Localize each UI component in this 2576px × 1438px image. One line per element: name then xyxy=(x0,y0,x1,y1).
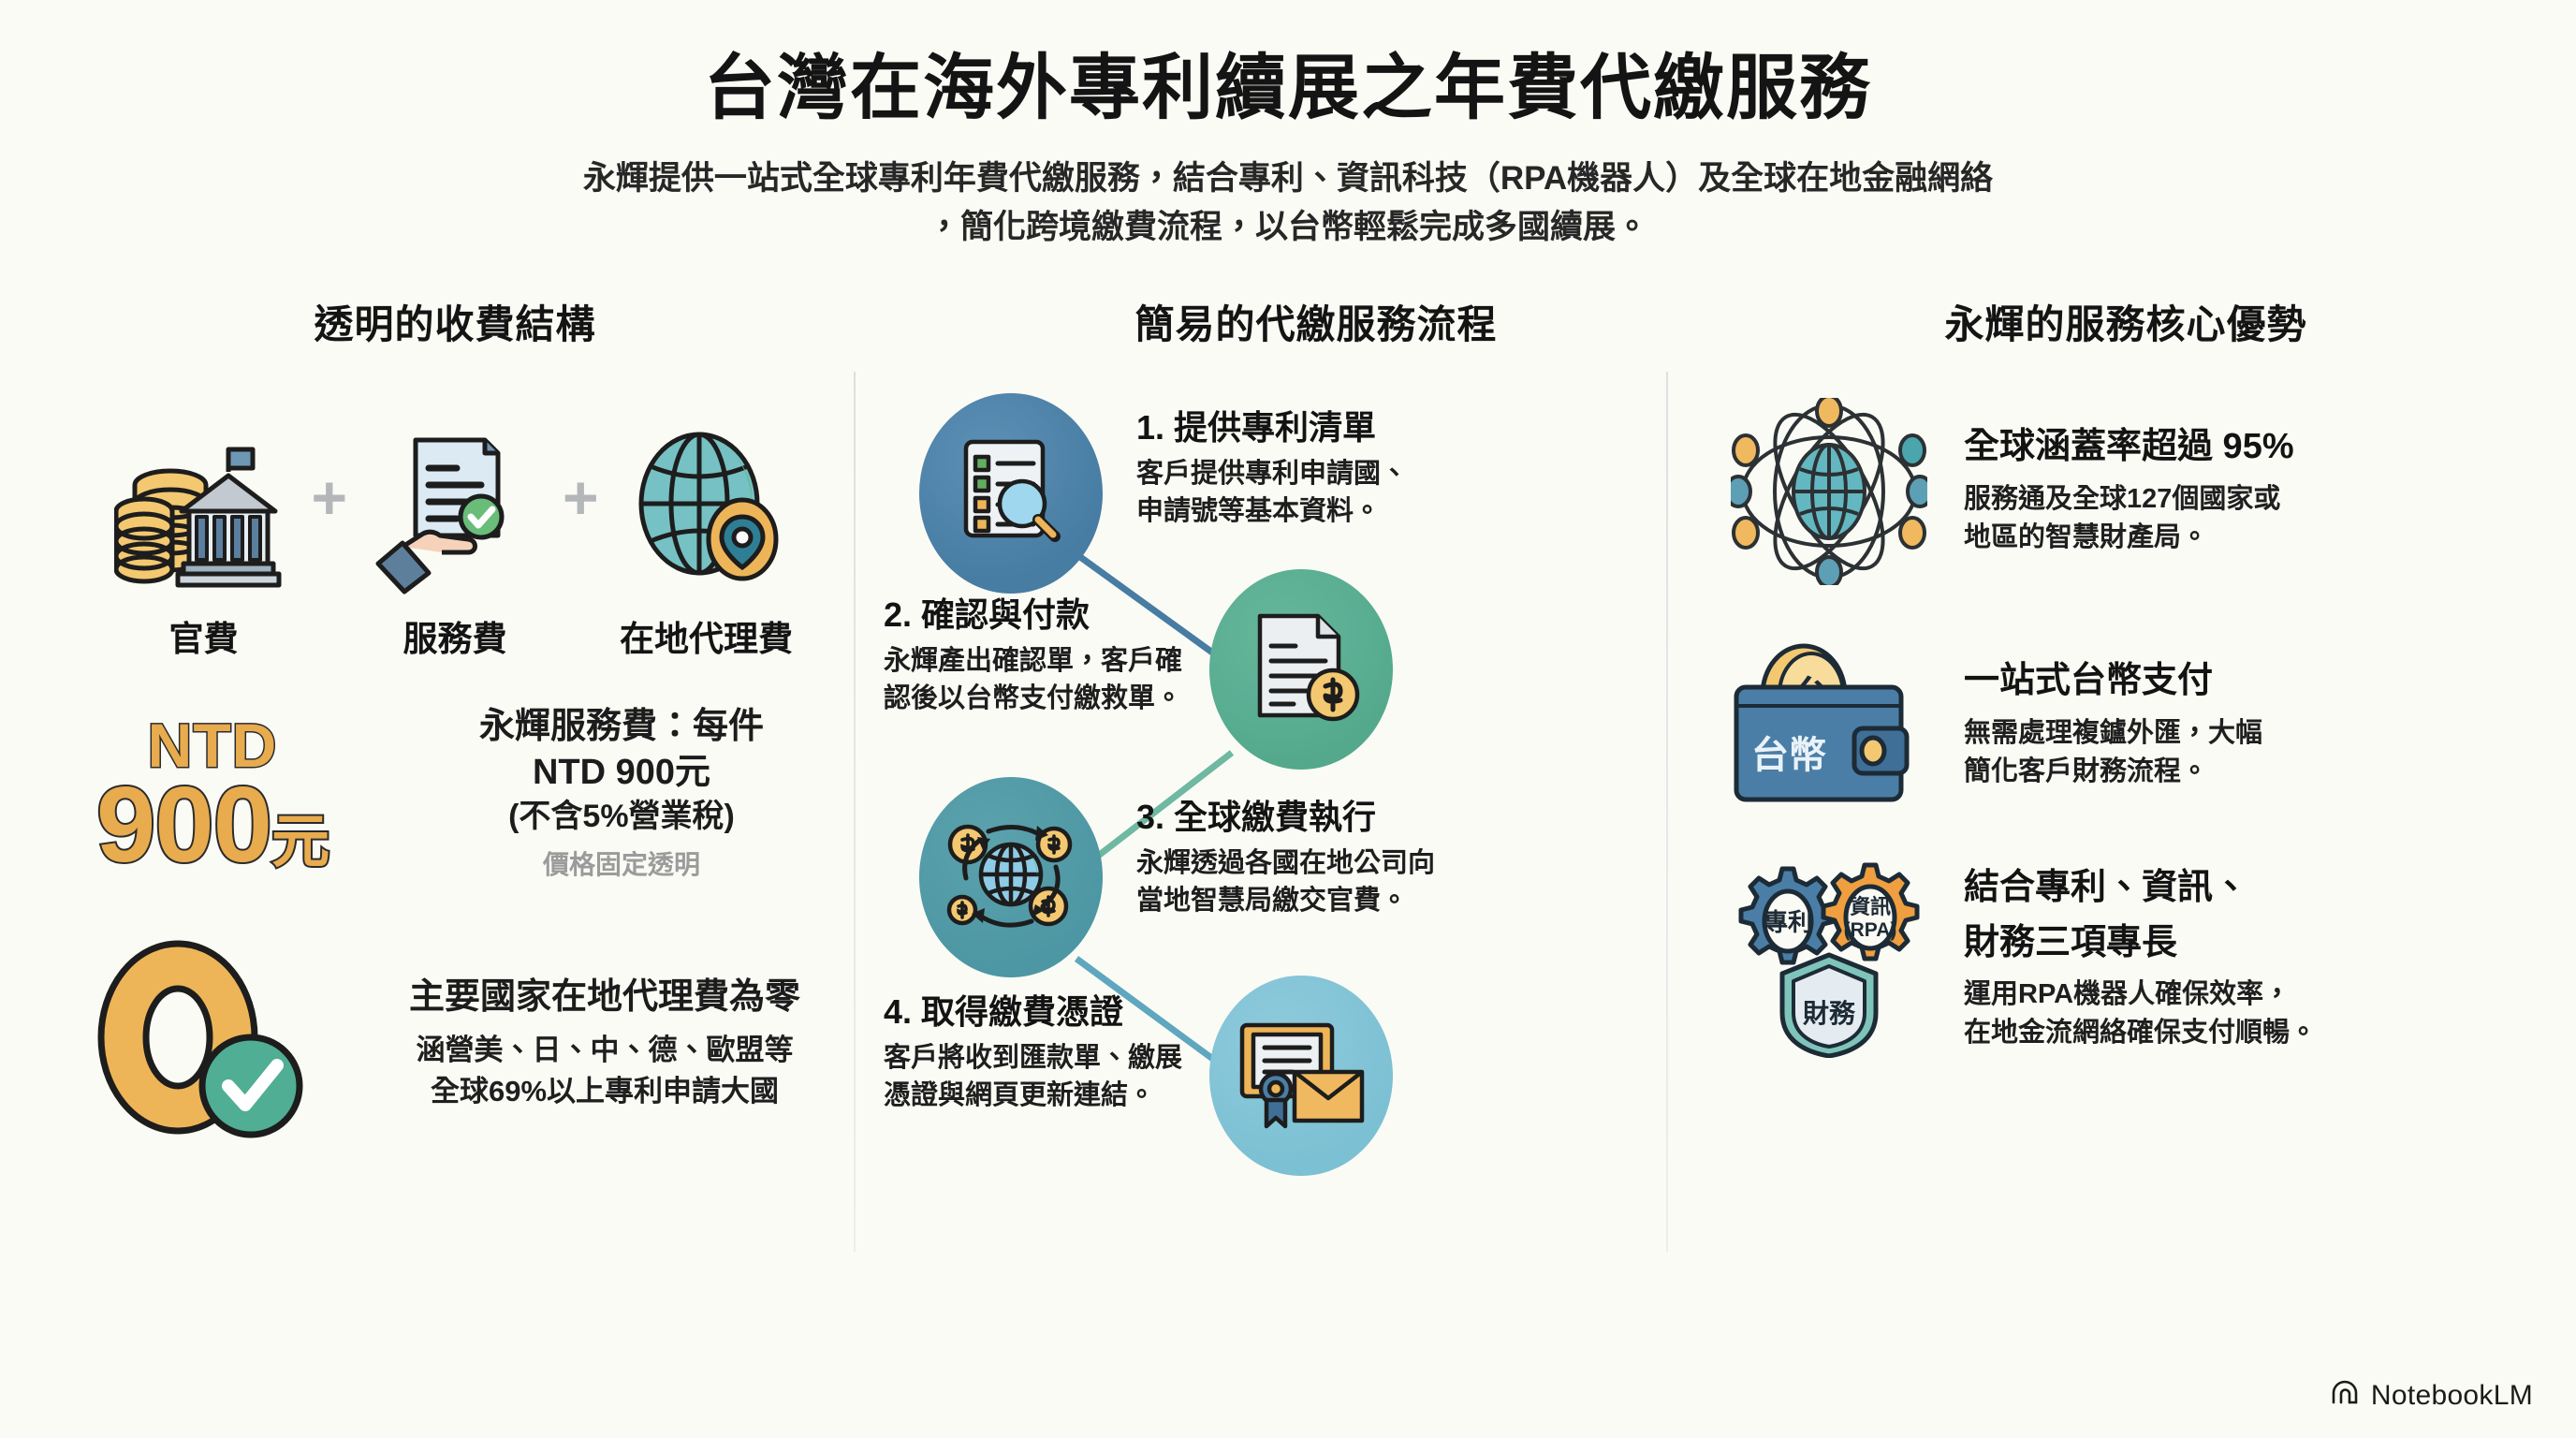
step-number: 1. xyxy=(1136,408,1164,447)
hand-document-check-icon xyxy=(357,399,553,595)
step-title: 4. 取得繳費憑證 xyxy=(884,985,1247,1034)
fee-component-local-agent: 在地代理費 xyxy=(608,399,805,661)
fee-component-official: 官費 xyxy=(105,399,301,661)
step-title-text: 確認與付款 xyxy=(921,595,1090,634)
step-desc-line-1: 永輝透過各國在地公司向 xyxy=(1136,844,1522,882)
checklist-magnifier-icon xyxy=(949,429,1073,557)
price-block: NTD 900元 永輝服務費：每件 NTD 900元 (不含5%營業稅) 價格固… xyxy=(34,704,876,883)
price-unit: 元 xyxy=(271,810,329,874)
process-bubble-1 xyxy=(919,393,1103,594)
advantage-twd-payment: 台 台幣 一站式台幣支付 無需處理複鑪外匯，大幅 簡化客戶財務流程。 xyxy=(1700,629,2542,822)
advantage-heading-line-2: 財務三項專長 xyxy=(1964,921,2317,964)
plus-sign-1: + xyxy=(311,399,347,595)
price-badge: NTD 900元 xyxy=(58,710,367,876)
zero-agent-fee-block: 主要國家在地代理費為零 涵營美、日、中、德、歐盟等 全球69%以上專利申請大國 xyxy=(34,936,876,1142)
step-title: 3. 全球繳費執行 xyxy=(1136,790,1522,839)
advantage-text: 全球涵蓋率超過 95% 服務通及全球127個國家或 地區的智慧財產局。 xyxy=(1964,425,2294,557)
process-step-4: 4. 取得繳費憑證 客戶將收到匯款單、繳展 憑證與網頁更新連結。 xyxy=(884,985,1247,1114)
fee-components-row: 官費 + xyxy=(34,399,876,661)
advantage-text: 一站式台幣支付 無需處理複鑪外匯，大幅 簡化客戶財務流程。 xyxy=(1964,659,2262,791)
global-network-globe-icon xyxy=(1719,395,1939,588)
zero-check-icon xyxy=(62,936,333,1142)
gear2-label-bottom: (RPA) xyxy=(1844,919,1897,941)
column-fee-structure: 透明的收費結構 xyxy=(34,293,876,1407)
step-desc-line-2: 申請號等基本資料。 xyxy=(1136,492,1511,530)
advantage-desc-line-1: 服務通及全球127個國家或 xyxy=(1964,480,2294,519)
column-advantages: 永輝的服務核心優勢 xyxy=(1700,293,2542,1407)
infographic-page: 台灣在海外專利續展之年費代繳服務 永輝提供一站式全球專利年費代繳服務，結合專利、… xyxy=(0,0,2576,1438)
fee-component-label: 在地代理費 xyxy=(608,610,805,661)
advantage-heading: 一站式台幣支付 xyxy=(1964,659,2262,702)
fee-component-label: 服務費 xyxy=(357,610,553,661)
step-title: 1. 提供專利清單 xyxy=(1136,401,1511,449)
price-description: 永輝服務費：每件 NTD 900元 (不含5%營業稅) 價格固定透明 xyxy=(367,704,876,883)
wallet-twd-coin-icon: 台 台幣 xyxy=(1719,629,1939,822)
shield-label: 財務 xyxy=(1803,999,1856,1028)
zero-heading: 主要國家在地代理費為零 xyxy=(333,967,876,1019)
zero-desc-line-1: 涵營美、日、中、德、歐盟等 xyxy=(333,1030,876,1071)
subtitle-line-1: 永輝提供一站式全球專利年費代繳服務，結合專利、資訊科技（RPA機器人）及全球在地… xyxy=(296,154,2280,203)
step-title-text: 取得繳費憑證 xyxy=(921,992,1123,1031)
column-process: 簡易的代繳服務流程 xyxy=(876,293,1700,1407)
notebooklm-logo-icon xyxy=(2330,1378,2362,1414)
plus-sign-2: + xyxy=(563,399,599,595)
subtitle-line-2: ，簡化跨境繳費流程，以台幣輕鬆完成多國續展。 xyxy=(296,203,2280,252)
advantage-text: 結合專利、資訊、 財務三項專長 運用RPA機器人確保效率， 在地金流網絡確保支付… xyxy=(1964,866,2317,1052)
process-flow: 1. 提供專利清單 客戶提供專利申請國、 申請號等基本資料。 2. 確認與付款 … xyxy=(876,386,1700,1341)
process-step-3: 3. 全球繳費執行 永輝透過各國在地公司向 當地智慧局繳交官費。 xyxy=(1136,790,1522,919)
step-title-text: 提供專利清單 xyxy=(1174,408,1376,447)
advantage-three-expertise: 專利 資訊 (RPA) 財務 結 xyxy=(1700,863,2542,1056)
wallet-label: 台幣 xyxy=(1751,735,1826,776)
advantage-desc-line-2: 地區的智慧財產局。 xyxy=(1964,519,2294,557)
advantage-heading-line-1: 結合專利、資訊、 xyxy=(1964,866,2317,909)
certificate-mail-icon xyxy=(1233,1014,1369,1137)
header: 台灣在海外專利續展之年費代繳服務 永輝提供一站式全球專利年費代繳服務，結合專利、… xyxy=(0,0,2576,252)
step-desc-line-1: 永輝產出確認單，客戶確 xyxy=(884,642,1247,680)
process-step-1: 1. 提供專利清單 客戶提供專利申請國、 申請號等基本資料。 xyxy=(1136,401,1511,530)
gear2-label-top: 資訊 xyxy=(1850,895,1891,918)
fee-structure-heading: 透明的收費結構 xyxy=(34,293,876,350)
price-amount-row: 900元 xyxy=(58,775,367,876)
coins-bank-icon xyxy=(105,399,301,595)
gears-shield-icon: 專利 資訊 (RPA) 財務 xyxy=(1719,863,1939,1056)
watermark: NotebookLM xyxy=(2330,1378,2533,1414)
price-desc-note: 價格固定透明 xyxy=(367,844,876,882)
process-bubble-3 xyxy=(919,777,1103,977)
step-desc-line-2: 憑證與網頁更新連結。 xyxy=(884,1077,1247,1114)
fee-component-label: 官費 xyxy=(105,610,301,661)
globe-money-flow-icon xyxy=(945,813,1076,941)
page-title: 台灣在海外專利續展之年費代繳服務 xyxy=(0,49,2576,128)
advantage-heading: 全球涵蓋率超過 95% xyxy=(1964,425,2294,468)
advantage-desc-line-1: 無需處理複鑪外匯，大幅 xyxy=(1964,714,2262,753)
zero-desc-line-2: 全球69%以上專利申請大國 xyxy=(333,1071,876,1112)
advantage-desc-line-2: 在地金流網絡確保支付順暢。 xyxy=(1964,1014,2317,1052)
price-desc-line-1: 永輝服務費：每件 xyxy=(367,704,876,750)
gear1-label: 專利 xyxy=(1764,908,1812,936)
zero-agent-fee-text: 主要國家在地代理費為零 涵營美、日、中、德、歐盟等 全球69%以上專利申請大國 xyxy=(333,967,876,1112)
step-number: 2. xyxy=(884,595,912,634)
step-title-text: 全球繳費執行 xyxy=(1174,798,1376,836)
price-desc-line-2: NTD 900元 xyxy=(367,750,876,796)
globe-pin-icon xyxy=(608,399,805,595)
step-desc-line-1: 客戶提供專利申請國、 xyxy=(1136,455,1511,492)
advantages-heading: 永輝的服務核心優勢 xyxy=(1709,293,2542,350)
step-desc-line-2: 當地智慧局繳交官費。 xyxy=(1136,882,1522,919)
process-heading: 簡易的代繳服務流程 xyxy=(932,293,1700,350)
step-number: 4. xyxy=(884,992,912,1031)
advantage-desc-line-2: 簡化客戶財務流程。 xyxy=(1964,753,2262,791)
advantage-global-coverage: 全球涵蓋率超過 95% 服務通及全球127個國家或 地區的智慧財產局。 xyxy=(1700,395,2542,588)
watermark-text: NotebookLM xyxy=(2371,1380,2533,1412)
fee-component-service: 服務費 xyxy=(357,399,553,661)
step-number: 3. xyxy=(1136,798,1164,836)
step-title: 2. 確認與付款 xyxy=(884,588,1247,637)
invoice-coin-icon xyxy=(1239,605,1363,733)
step-desc-line-2: 認後以台幣支付繳救單。 xyxy=(884,680,1247,717)
price-desc-line-3: (不含5%營業稅) xyxy=(367,796,876,839)
columns-container: 透明的收費結構 xyxy=(0,293,2576,1407)
price-amount: 900 xyxy=(96,766,271,885)
page-subtitle: 永輝提供一站式全球專利年費代繳服務，結合專利、資訊科技（RPA機器人）及全球在地… xyxy=(296,154,2280,252)
advantage-desc-line-1: 運用RPA機器人確保效率， xyxy=(1964,976,2317,1014)
step-desc-line-1: 客戶將收到匯款單、繳展 xyxy=(884,1039,1247,1077)
process-step-2: 2. 確認與付款 永輝產出確認單，客戶確 認後以台幣支付繳救單。 xyxy=(884,588,1247,717)
